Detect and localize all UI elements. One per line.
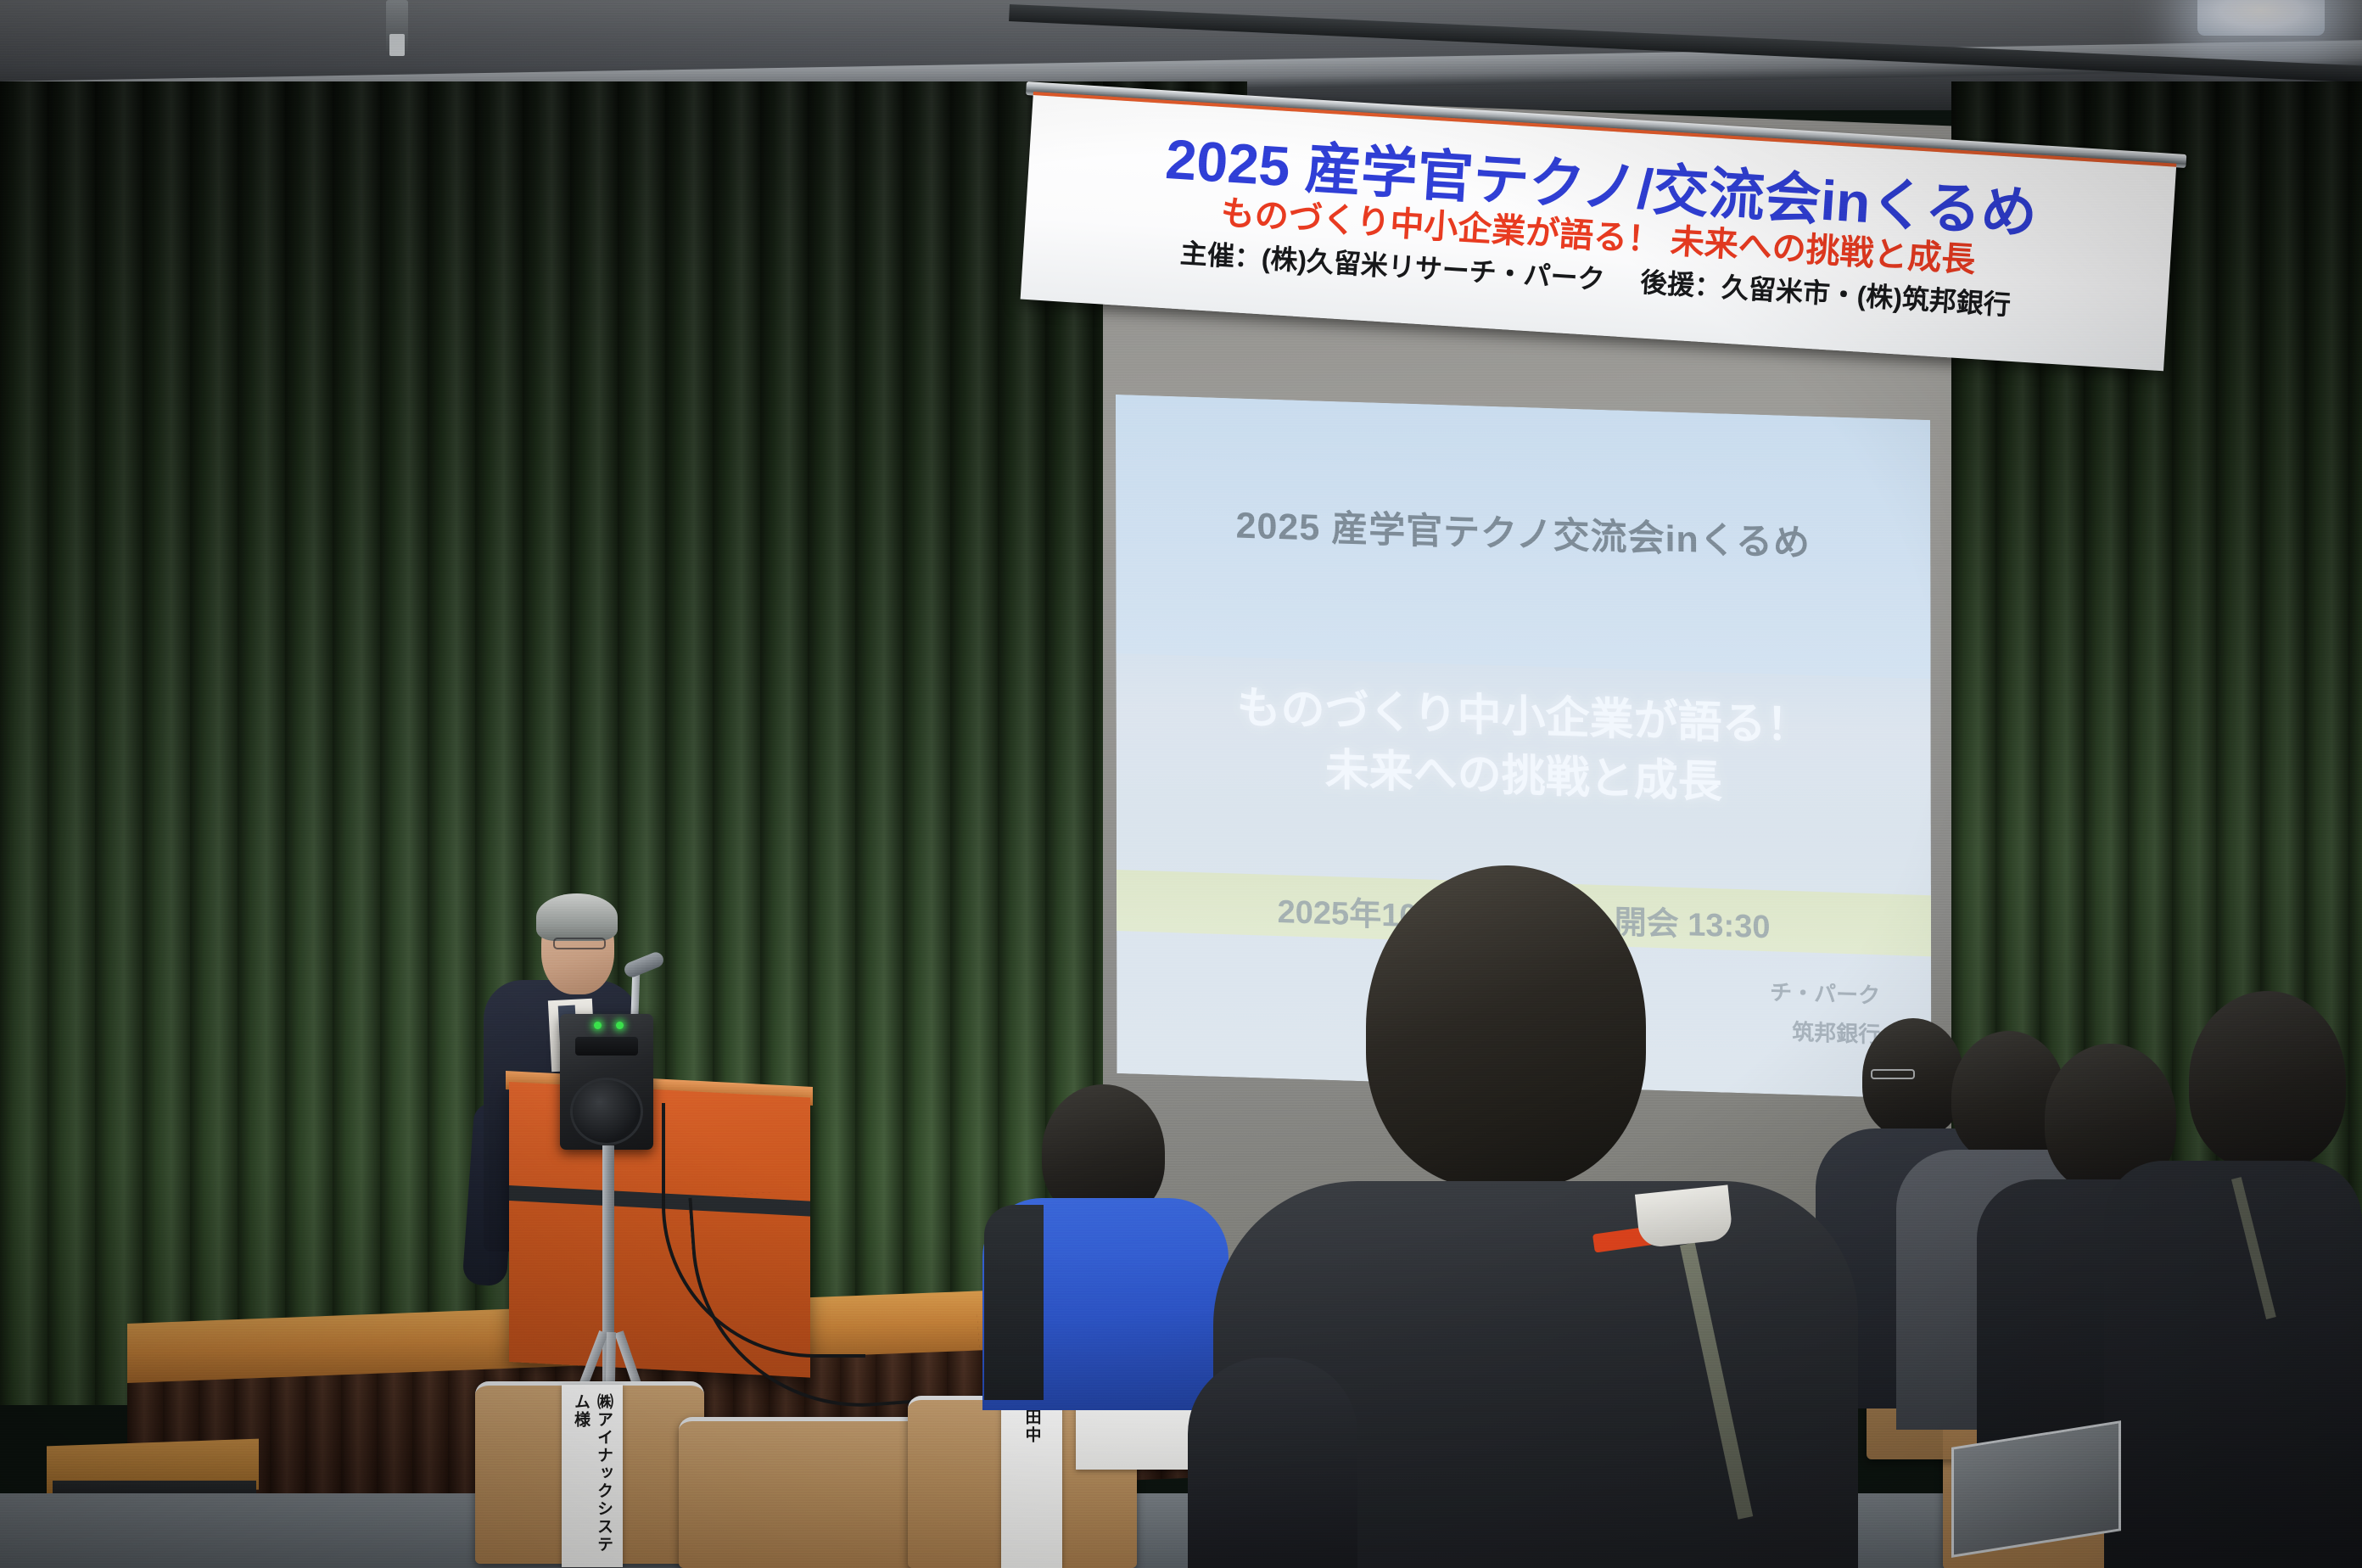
presenter-glasses — [553, 938, 606, 949]
slide-footer-support: 筑邦銀行 — [1792, 1015, 1880, 1049]
presenter-hair — [536, 893, 618, 941]
attendee-glasses-eyewear — [1871, 1069, 1915, 1079]
ceiling-light — [2197, 0, 2325, 36]
attendee-foreground-head — [1366, 865, 1646, 1188]
pa-speaker-woofer — [570, 1078, 643, 1145]
slide-footer-host: チ・パーク — [1770, 975, 1880, 1010]
nameplate-tanaka-text: 田中 — [1021, 1408, 1044, 1444]
pa-led-right — [616, 1022, 624, 1029]
attendee-blue-vest-undershirt — [984, 1205, 1044, 1400]
attendee-foreground-collar — [1635, 1184, 1733, 1248]
pa-led-left — [594, 1022, 602, 1029]
nameplate-tanaka: 田中 — [1001, 1400, 1062, 1568]
auditorium-photo-scene: 2025 産学官テクノ交流会inくるめ ものづくり中小企業が語る！ 未来への挑戦… — [0, 0, 2362, 1568]
attendee-left-edge-body — [1188, 1358, 1357, 1568]
chair-left-second[interactable] — [679, 1417, 925, 1568]
nameplate-ainac: ㈱アイナックシステム様 — [562, 1385, 623, 1567]
ceiling-projector-mount — [386, 0, 408, 53]
pa-speaker-tweeter — [575, 1037, 638, 1056]
attendee-right-lanyard-head — [2189, 991, 2346, 1169]
nameplate-ainac-text: ㈱アイナックシステム様 — [569, 1393, 615, 1567]
attendee-right-lanyard-body — [2104, 1161, 2362, 1568]
